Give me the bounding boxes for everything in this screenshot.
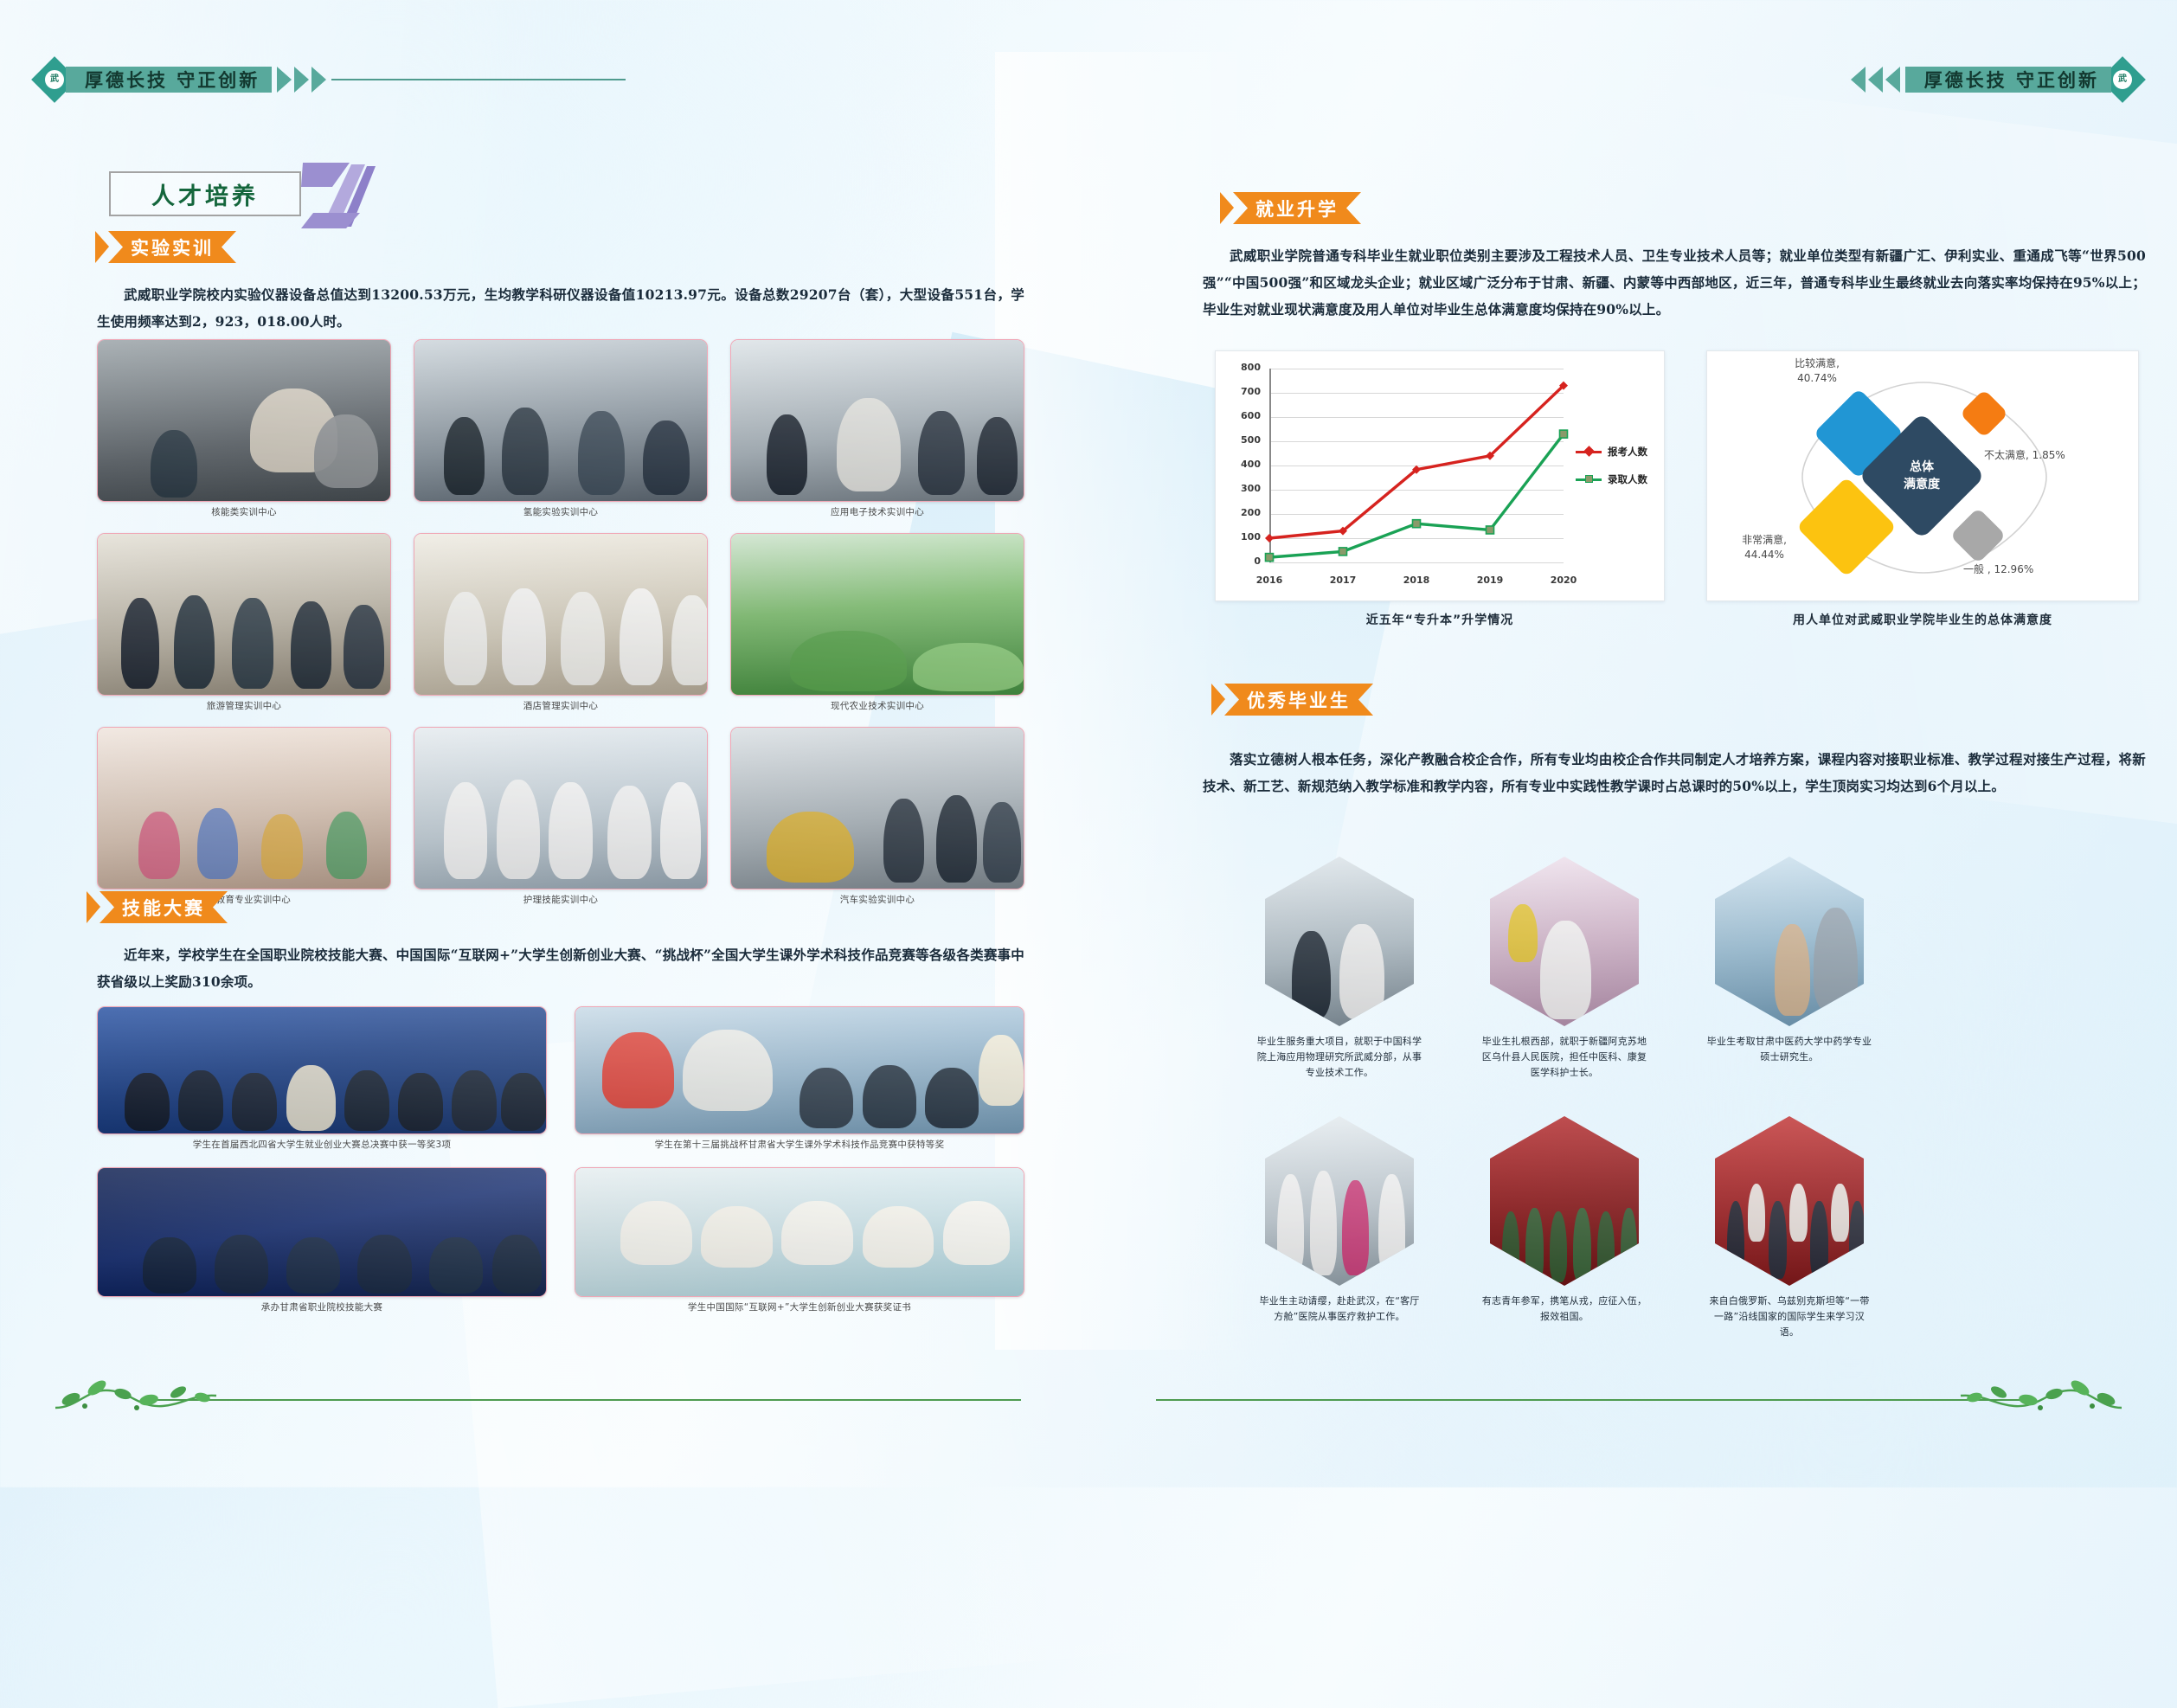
seal-label: 武 bbox=[2111, 68, 2134, 91]
x-axis-tick: 2020 bbox=[1551, 575, 1577, 586]
legend-label: 报考人数 bbox=[1608, 445, 1647, 459]
graduate-card: 来自白俄罗斯、乌兹别克斯坦等“一带一路”沿线国家的国际学生来学习汉语。 bbox=[1715, 1116, 1885, 1340]
title-decoration-icon bbox=[298, 161, 376, 230]
photo-greenhouse-agriculture bbox=[730, 533, 1024, 696]
photo-caption: 承办甘肃省职业院校技能大赛 bbox=[97, 1301, 547, 1314]
photo-cell: 学生在第十三届挑战杯甘肃省大学生课外学术科技作品竞赛中获特等奖 bbox=[575, 1006, 1024, 1152]
graduate-caption: 毕业生服务重大项目，就职于中国科学院上海应用物理研究所武威分部，从事专业技术工作… bbox=[1255, 1034, 1424, 1081]
photo-cell: 氢能实验实训中心 bbox=[414, 339, 708, 519]
footer-ornament-right bbox=[1156, 1373, 2125, 1413]
data-point bbox=[1413, 520, 1421, 528]
photo-certificates bbox=[575, 1167, 1024, 1297]
chevron-right-icon-group bbox=[277, 67, 326, 93]
running-header-right: 武 厚德长技 守正创新 bbox=[1846, 62, 2139, 97]
photo-automotive-workshop bbox=[730, 727, 1024, 889]
chart-caption-satisfaction: 用人单位对武威职业学院毕业生的总体满意度 bbox=[1689, 611, 2156, 628]
ribbon-label: 实验实训 bbox=[108, 231, 236, 263]
photo-caption: 酒店管理实训中心 bbox=[414, 700, 708, 713]
brochure-spread: 武 厚德长技 守正创新 武 厚德长技 守正创新 人才培养 bbox=[0, 0, 2177, 1487]
chart-panel-line: 0100200300400500600700800 20162017201820… bbox=[1215, 350, 1665, 601]
photo-tourism-training bbox=[97, 533, 391, 696]
photo-award-stage-blue bbox=[97, 1167, 547, 1297]
photo-caption: 应用电子技术实训中心 bbox=[730, 506, 1024, 519]
paragraph-shiyanshixun: 武威职业学院校内实验仪器设备总值达到13200.53万元，生均教学科研仪器设备值… bbox=[97, 281, 1024, 335]
data-point bbox=[1265, 534, 1274, 543]
ribbon-label: 技能大赛 bbox=[100, 891, 228, 923]
x-axis-tick: 2019 bbox=[1477, 575, 1504, 586]
legend-label: 录取人数 bbox=[1608, 472, 1647, 486]
photo-cell: 护理技能实训中心 bbox=[414, 727, 708, 907]
ribbon-heading-youxiubiyesheng: 优秀毕业生 bbox=[1211, 684, 1373, 716]
label-dissatisfied: 不太满意, 1.85% bbox=[1984, 448, 2122, 463]
photo-caption: 现代农业技术实训中心 bbox=[730, 700, 1024, 713]
vine-icon bbox=[52, 1373, 225, 1413]
ribbon-heading-shiyanshixun: 实验实训 bbox=[95, 231, 236, 263]
photo-preschool-education bbox=[97, 727, 391, 889]
photo-caption: 氢能实验实训中心 bbox=[414, 506, 708, 519]
photo-international-students bbox=[1715, 1116, 1864, 1286]
graduate-caption: 来自白俄罗斯、乌兹别克斯坦等“一带一路”沿线国家的国际学生来学习汉语。 bbox=[1705, 1294, 1874, 1340]
legend-item: 录取人数 bbox=[1576, 472, 1647, 486]
photo-award-stage-1 bbox=[97, 1006, 547, 1134]
data-point bbox=[1560, 430, 1568, 438]
photo-caption: 护理技能实训中心 bbox=[414, 894, 708, 907]
legend-swatch bbox=[1576, 451, 1602, 453]
chart-caption-line: 近五年“专升本”升学情况 bbox=[1215, 611, 1665, 628]
photo-hotel-management bbox=[414, 533, 708, 696]
photo-grid-laboratories: 核能类实训中心 氢能实验实训中心 应用电子技术实训中心 旅游管理实训中心 酒店管… bbox=[97, 339, 1024, 907]
legend-item: 报考人数 bbox=[1576, 445, 1647, 459]
graduate-caption: 毕业生考取甘肃中医药大学中药学专业硕士研究生。 bbox=[1705, 1034, 1874, 1065]
photo-caption: 学生中国国际“互联网+”大学生创新创业大赛获奖证书 bbox=[575, 1301, 1024, 1314]
graduate-caption: 毕业生主动请缨，赴赴武汉，在“客厅方舱”医院从事医疗救护工作。 bbox=[1255, 1294, 1424, 1325]
photo-electronics-lab bbox=[730, 339, 1024, 502]
photo-ppe-group bbox=[1265, 1116, 1414, 1286]
photo-cell: 核能类实训中心 bbox=[97, 339, 391, 519]
photo-cell: 学生中国国际“互联网+”大学生创新创业大赛获奖证书 bbox=[575, 1167, 1024, 1314]
photo-cell: 承办甘肃省职业院校技能大赛 bbox=[97, 1167, 547, 1314]
x-axis-tick: 2016 bbox=[1256, 575, 1283, 586]
seal-label: 武 bbox=[43, 68, 66, 91]
ribbon-heading-jinengdasai: 技能大赛 bbox=[87, 891, 228, 923]
header-rule-left bbox=[331, 79, 626, 80]
label-average: 一般 , 12.96% bbox=[1963, 562, 2102, 577]
vine-icon bbox=[1952, 1373, 2125, 1413]
header-banner-right: 厚德长技 守正创新 bbox=[1905, 67, 2111, 93]
photo-cell: 学前教育专业实训中心 bbox=[97, 727, 391, 907]
photo-caption: 汽车实验实训中心 bbox=[730, 894, 1024, 907]
photo-caption: 核能类实训中心 bbox=[97, 506, 391, 519]
photo-caption: 旅游管理实训中心 bbox=[97, 700, 391, 713]
page-title: 人才培养 bbox=[109, 171, 301, 216]
graduate-card: 毕业生服务重大项目，就职于中国科学院上海应用物理研究所武威分部，从事专业技术工作… bbox=[1265, 857, 1435, 1081]
legend-swatch bbox=[1576, 478, 1602, 481]
paragraph-youxiubiyesheng: 落实立德树人根本任务，深化产教融合校企合作，所有专业均由校企合作共同制定人才培养… bbox=[1203, 746, 2146, 799]
photo-caption: 学生在第十三届挑战杯甘肃省大学生课外学术科技作品竞赛中获特等奖 bbox=[575, 1139, 1024, 1152]
photo-computer-classroom bbox=[414, 339, 708, 502]
photo-nursing-skills bbox=[414, 727, 708, 889]
photo-caption: 学生在首届西北四省大学生就业创业大赛总决赛中获一等奖3项 bbox=[97, 1139, 547, 1152]
satisfaction-center-label: 总体满意度 bbox=[1904, 459, 1940, 493]
label-very-satisfied: 非常满意, 44.44% bbox=[1712, 533, 1816, 562]
photo-enlistment-ceremony bbox=[1490, 1116, 1639, 1286]
chart-panel-satisfaction: 总体满意度 比较满意, 40.74% 不太满意, 1.85% 一般 , 12.9… bbox=[1706, 350, 2139, 601]
label-fairly-satisfied: 比较满意, 40.74% bbox=[1761, 356, 1873, 386]
data-point bbox=[1266, 554, 1274, 562]
x-axis-tick: 2017 bbox=[1330, 575, 1357, 586]
header-motto: 厚德长技 守正创新 bbox=[85, 67, 260, 93]
photo-poster-exhibition bbox=[575, 1006, 1024, 1134]
chevron-left-icon-group bbox=[1851, 67, 1900, 93]
graduate-card: 毕业生考取甘肃中医药大学中药学专业硕士研究生。 bbox=[1715, 857, 1885, 1065]
footer-ornament-left bbox=[52, 1373, 1021, 1413]
photo-cell: 学生在首届西北四省大学生就业创业大赛总决赛中获一等奖3项 bbox=[97, 1006, 547, 1152]
photo-grid-competitions: 学生在首届西北四省大学生就业创业大赛总决赛中获一等奖3项 学生在第十三届挑战杯甘… bbox=[97, 1006, 1024, 1314]
graduate-card: 毕业生扎根西部，就职于新疆阿克苏地区乌什县人民医院，担任中医科、康复医学科护士长… bbox=[1490, 857, 1660, 1081]
ribbon-heading-jiuyeshengxue: 就业升学 bbox=[1220, 192, 1361, 224]
graduate-card: 毕业生主动请缨，赴赴武汉，在“客厅方舱”医院从事医疗救护工作。 bbox=[1265, 1116, 1435, 1325]
ribbon-label: 优秀毕业生 bbox=[1224, 684, 1373, 716]
photo-campus-female bbox=[1715, 857, 1864, 1026]
running-header-left: 武 厚德长技 守正创新 bbox=[38, 62, 626, 97]
data-point bbox=[1339, 548, 1347, 555]
series-line-录取人数 bbox=[1269, 434, 1564, 558]
header-motto: 厚德长技 守正创新 bbox=[1924, 67, 2099, 93]
photo-industrial-lab bbox=[97, 339, 391, 502]
graduate-caption: 毕业生扎根西部，就职于新疆阿克苏地区乌什县人民医院，担任中医科、康复医学科护士长… bbox=[1480, 1034, 1649, 1081]
paragraph-jiuyeshengxue: 武威职业学院普通专科毕业生就业职位类别主要涉及工程技术人员、卫生专业技术人员等；… bbox=[1203, 242, 2146, 323]
series-line-报考人数 bbox=[1269, 386, 1564, 538]
photo-nurse-flowers bbox=[1490, 857, 1639, 1026]
data-point bbox=[1487, 526, 1494, 534]
photo-cell: 汽车实验实训中心 bbox=[730, 727, 1024, 907]
photo-cell: 现代农业技术实训中心 bbox=[730, 533, 1024, 713]
graduate-card: 有志青年参军，携笔从戎，应征入伍，报效祖国。 bbox=[1490, 1116, 1660, 1325]
photo-cell: 应用电子技术实训中心 bbox=[730, 339, 1024, 519]
x-axis-tick: 2018 bbox=[1403, 575, 1430, 586]
photo-cell: 酒店管理实训中心 bbox=[414, 533, 708, 713]
graduate-caption: 有志青年参军，携笔从戎，应征入伍，报效祖国。 bbox=[1480, 1294, 1649, 1325]
photo-cell: 旅游管理实训中心 bbox=[97, 533, 391, 713]
page-title-text: 人才培养 bbox=[109, 171, 301, 216]
header-banner-left: 厚德长技 守正创新 bbox=[66, 67, 272, 93]
paragraph-jinengdasai: 近年来，学校学生在全国职业院校技能大赛、中国国际“互联网+”大学生创新创业大赛、… bbox=[97, 941, 1024, 995]
ribbon-label: 就业升学 bbox=[1233, 192, 1361, 224]
photo-lab-male bbox=[1265, 857, 1414, 1026]
